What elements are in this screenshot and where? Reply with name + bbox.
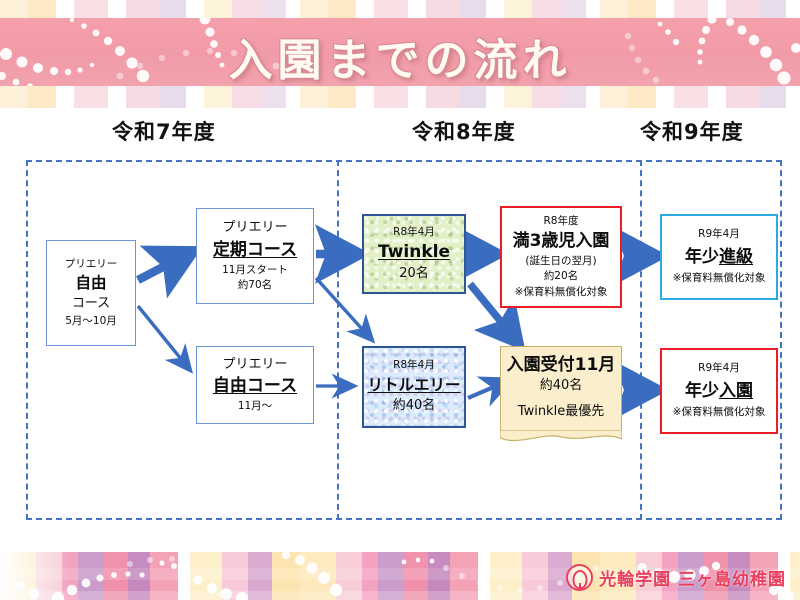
footer-left-fade [0, 552, 70, 600]
node-twinkle-line3: 20名 [399, 265, 429, 284]
arrow-free-to-regular [138, 254, 188, 280]
top-stripe-lower [0, 86, 800, 108]
arrow-free-to-freenov [138, 306, 190, 370]
node-free-course-nov-line2: 自由コース [213, 374, 297, 399]
node-regular-course[interactable]: プリエリー 定期コース 11月スタート 約70名 [196, 208, 314, 304]
node-promote-line1: R9年4月 [698, 227, 740, 242]
node-little-ellie-line2: リトルエリー [367, 374, 460, 397]
node-regular-course-line4: 約70名 [238, 278, 272, 293]
flow-diagram: 令和7年度 令和8年度 令和9年度 [0, 108, 800, 552]
top-stripe-upper [0, 0, 800, 18]
node-free-course-line1: プリエリー [65, 257, 118, 272]
node-regular-course-line3: 11月スタート [222, 263, 288, 278]
node-free-course-line3: コース [72, 295, 110, 314]
school-logo-text: 光輪学園 三ヶ島幼稚園 [599, 565, 786, 590]
node-twinkle-line1: R8年4月 [393, 225, 435, 240]
node-age3-entry-line2: 満3歳児入園 [513, 229, 610, 254]
node-nensho-promotion[interactable]: R9年4月 年少進級 ※保育料無償化対象 [660, 214, 778, 300]
node-little-ellie-line3: 約40名 [393, 397, 436, 416]
node-age3-entry-line4: 約20名 [544, 269, 578, 284]
node-free-course-nov-line1: プリエリー [222, 356, 287, 375]
node-regular-course-line2: 定期コース [213, 238, 297, 263]
node-entry-reception-line2: 約40名 [540, 377, 583, 396]
node-promote-line2: 年少進級 [685, 245, 753, 270]
node-twinkle-line2: Twinkle [378, 240, 450, 265]
node-promote-line3: ※保育料無償化対象 [673, 271, 766, 286]
node-little-ellie[interactable]: R8年4月 リトルエリー 約40名 [362, 346, 466, 428]
node-entry-reception-wave-edge [500, 430, 622, 444]
node-nensho-entry[interactable]: R9年4月 年少入園 ※保育料無償化対象 [660, 348, 778, 434]
node-free-course-november[interactable]: プリエリー 自由コース 11月～ [196, 346, 314, 424]
node-promote-line2-b: 進級 [719, 247, 753, 267]
node-regular-course-line1: プリエリー [222, 219, 287, 238]
node-free-course-nov-line3: 11月～ [238, 399, 272, 414]
node-age3-entry[interactable]: R8年度 満3歳児入園 (誕生日の翌月) 約20名 ※保育料無償化対象 [500, 206, 622, 308]
tulip-circle-icon [566, 564, 593, 591]
node-little-ellie-line1: R8年4月 [393, 358, 435, 373]
page-title: 入園までの流れ [0, 24, 800, 88]
node-nensho-entry-line2-a: 年少 [685, 381, 719, 401]
node-free-course-line4: 5月～10月 [65, 314, 117, 329]
node-free-course-line2: 自由 [75, 272, 106, 295]
node-promote-line2-a: 年少 [685, 247, 719, 267]
school-logo: 光輪学園 三ヶ島幼稚園 [566, 562, 786, 592]
node-entry-reception[interactable]: 入園受付11月 約40名 Twinkle最優先 [500, 346, 622, 434]
node-age3-entry-line5: ※保育料無償化対象 [515, 285, 608, 300]
node-nensho-entry-line2-b: 入園 [719, 381, 753, 401]
node-nensho-entry-line3: ※保育料無償化対象 [673, 405, 766, 420]
node-nensho-entry-line1: R9年4月 [698, 361, 740, 376]
node-twinkle[interactable]: R8年4月 Twinkle 20名 [362, 214, 466, 294]
node-age3-entry-line3: (誕生日の翌月) [525, 254, 596, 269]
node-free-course[interactable]: プリエリー 自由 コース 5月～10月 [46, 240, 136, 346]
node-entry-reception-line1: 入園受付11月 [507, 353, 616, 378]
node-entry-reception-line3: Twinkle最優先 [518, 403, 604, 422]
slide-canvas: 入園までの流れ 令和7年度 令和8年度 令和9年度 [0, 0, 800, 600]
node-age3-entry-line1: R8年度 [544, 214, 579, 229]
node-nensho-entry-line2: 年少入園 [685, 379, 753, 404]
